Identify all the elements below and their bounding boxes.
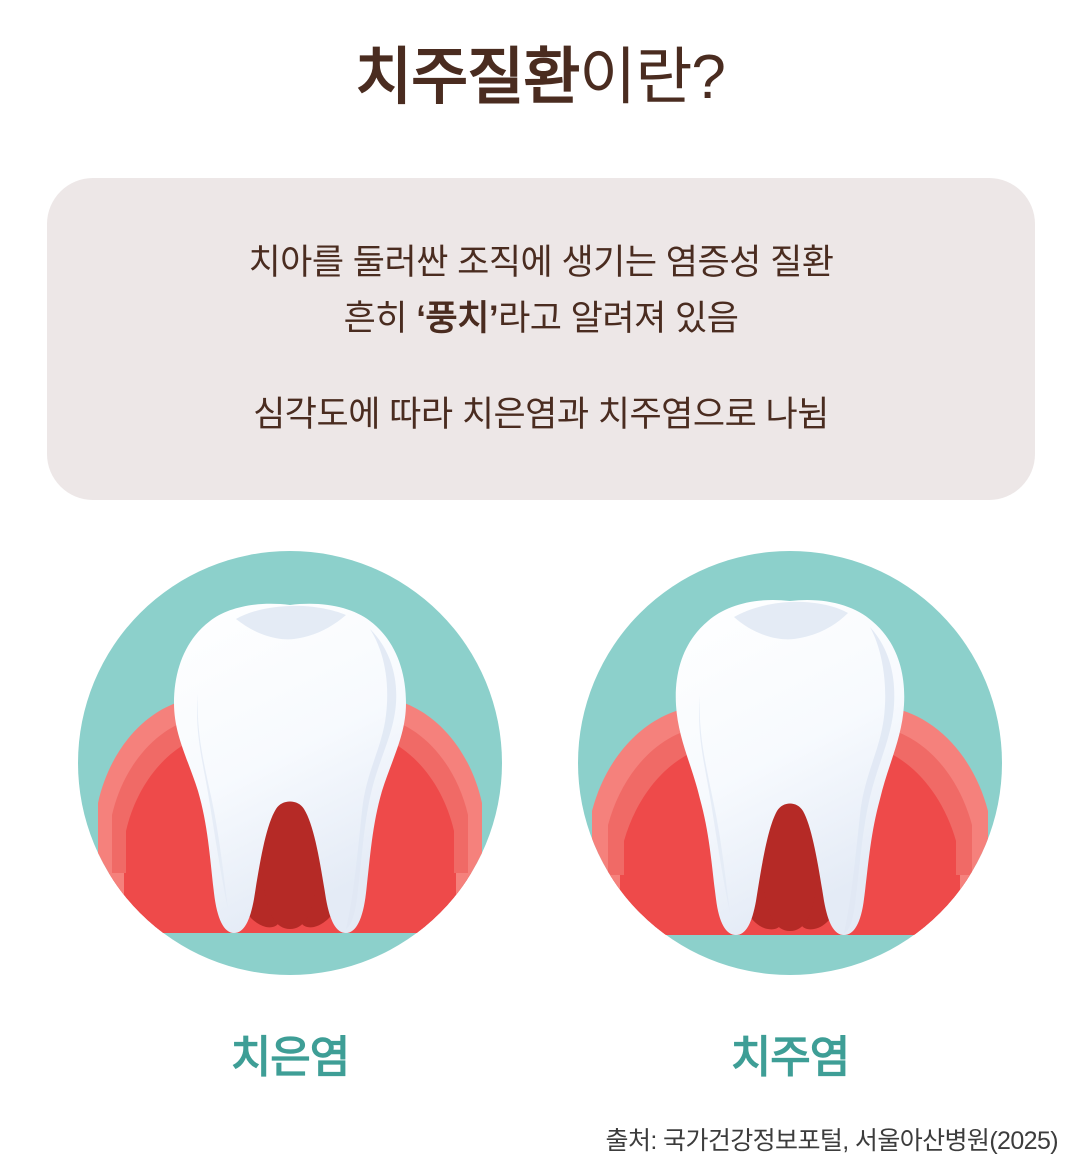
description-line-3: 심각도에 따라 치은염과 치주염으로 나뉨	[253, 387, 829, 443]
page-title: 치주질환이란?	[0, 42, 1080, 113]
gingivitis-illustration	[70, 543, 510, 983]
page-title-strong: 치주질환	[355, 43, 579, 112]
description-line-1: 치아를 둘러싼 조직에 생기는 염증성 질환	[248, 235, 833, 291]
caption-gingivitis: 치은염	[70, 1021, 510, 1085]
description-line-2-post: 라고 알려져 있음	[498, 299, 738, 338]
description-line-2-strong: ‘풍치’	[416, 299, 498, 338]
illustration-row	[0, 543, 1080, 993]
page-title-light: 이란?	[579, 43, 725, 112]
description-line-2: 흔히 ‘풍치’라고 알려져 있음	[344, 291, 739, 347]
source-note: 출처: 국가건강정보포털, 서울아산병원(2025)	[606, 1121, 1058, 1157]
description-card: 치아를 둘러싼 조직에 생기는 염증성 질환 흔히 ‘풍치’라고 알려져 있음 …	[47, 178, 1035, 500]
description-line-2-pre: 흔히	[344, 299, 417, 338]
caption-periodontitis: 치주염	[570, 1021, 1010, 1085]
periodontitis-illustration	[570, 543, 1010, 983]
